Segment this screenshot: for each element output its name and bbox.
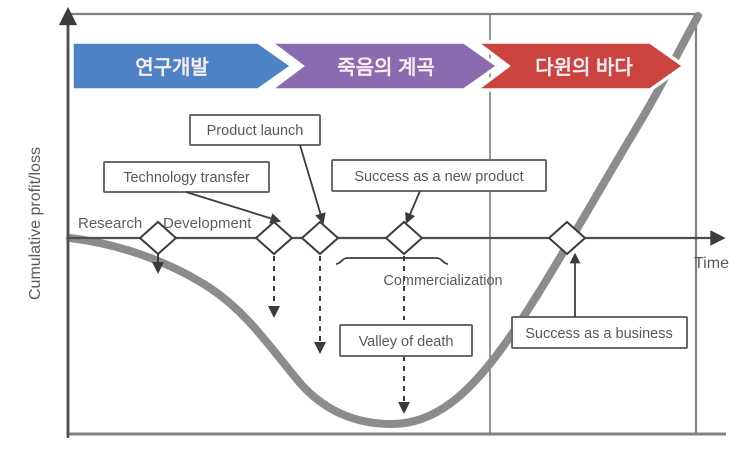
callout-text-success-business: Success as a business <box>525 326 673 342</box>
callout-success-business[interactable]: Success as a business <box>512 258 687 348</box>
y-axis-label: Cumulative profit/loss <box>27 147 44 300</box>
leader-product-launch <box>300 145 322 219</box>
callout-text-valley-of-death: Valley of death <box>359 334 454 350</box>
stage-label-valley: 죽음의 계곡 <box>337 56 435 79</box>
commercialization-bracket: Commercialization <box>336 258 503 289</box>
stage-banner-valley[interactable]: 죽음의 계곡 <box>270 42 498 90</box>
callout-technology-transfer[interactable]: Technology transfer <box>104 162 276 220</box>
callout-success-new-product[interactable]: Success as a new product <box>332 160 546 219</box>
callout-valley-of-death[interactable]: Valley of death <box>340 325 472 356</box>
callout-text-technology-transfer: Technology transfer <box>123 170 250 186</box>
stage-banner-rnd[interactable]: 연구개발 <box>72 42 292 90</box>
label-development: Development <box>163 215 252 232</box>
diamond-marker-success-new-product[interactable] <box>386 222 422 254</box>
label-research: Research <box>78 215 142 232</box>
diamond-marker-technology-transfer[interactable] <box>256 222 292 254</box>
stage-banner-darwin[interactable]: 다윈의 바다 <box>476 42 684 90</box>
diamond-marker-product-launch[interactable] <box>302 222 338 254</box>
leader-success-new-product <box>408 191 420 219</box>
innovation-chasm-diagram: Cumulative profit/loss Time 연구개발 죽음의 계곡 … <box>0 0 752 449</box>
x-axis-label: Time <box>694 255 729 272</box>
callout-text-product-launch: Product launch <box>207 123 304 139</box>
stage-label-darwin: 다윈의 바다 <box>535 56 633 79</box>
commercialization-label: Commercialization <box>383 273 502 289</box>
callout-text-success-new-product: Success as a new product <box>354 169 523 185</box>
diagram-canvas: Cumulative profit/loss Time 연구개발 죽음의 계곡 … <box>0 0 752 449</box>
stage-label-rnd: 연구개발 <box>135 56 209 79</box>
